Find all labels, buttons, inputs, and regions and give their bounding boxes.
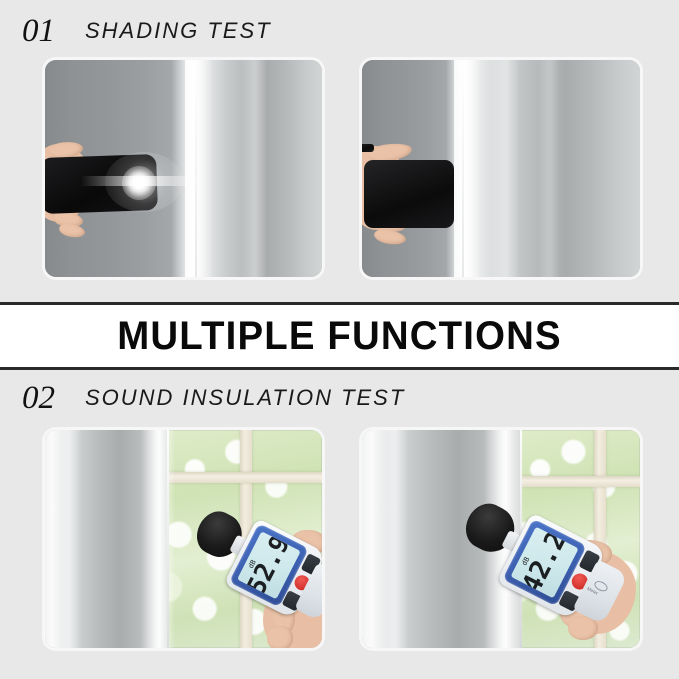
curtain-sheen-secondary	[490, 60, 520, 277]
banner-title: MULTIPLE FUNCTIONS	[117, 314, 562, 359]
section-heading-02: 02 SOUND INSULATION TEST	[0, 375, 679, 421]
smartphone	[364, 160, 454, 228]
curtain-fold-line	[462, 60, 464, 277]
infographic-page: 01 SHADING TEST	[0, 0, 679, 679]
photo-shading-before	[45, 60, 322, 277]
curtain-sheen-secondary	[55, 430, 81, 648]
finger-index	[267, 626, 293, 648]
smartphone-edge	[362, 144, 374, 152]
photo-panel-sound-curtain-closed: 42.2 dB Meter	[362, 430, 640, 648]
flashlight-beam	[122, 166, 156, 200]
window-mullion-horizontal	[512, 476, 640, 487]
section-title-02: SOUND INSULATION TEST	[85, 387, 405, 409]
section-number-02: 02	[22, 382, 55, 415]
photo-shading-after	[362, 60, 640, 277]
photo-sound-window-open: 52.9 dB	[45, 430, 322, 648]
curtain-edge	[167, 430, 169, 648]
curtain-sheen-tertiary	[538, 60, 560, 277]
window-mullion-horizontal	[159, 472, 322, 483]
photo-panel-shading-after	[362, 60, 640, 277]
section-title-01: SHADING TEST	[85, 20, 272, 42]
curtain-fold-line	[195, 60, 197, 277]
photo-panel-sound-window-open: 52.9 dB	[45, 430, 322, 648]
curtain-sheen-secondary	[380, 430, 408, 648]
curtain-sheen-secondary	[241, 60, 267, 277]
section-heading-01: 01 SHADING TEST	[0, 8, 679, 54]
curtain-sheen	[141, 430, 175, 648]
photo-panel-shading-before	[45, 60, 322, 277]
photo-sound-curtain-closed: 42.2 dB Meter	[362, 430, 640, 648]
banner: MULTIPLE FUNCTIONS	[0, 302, 679, 370]
section-number-01: 01	[22, 15, 55, 48]
